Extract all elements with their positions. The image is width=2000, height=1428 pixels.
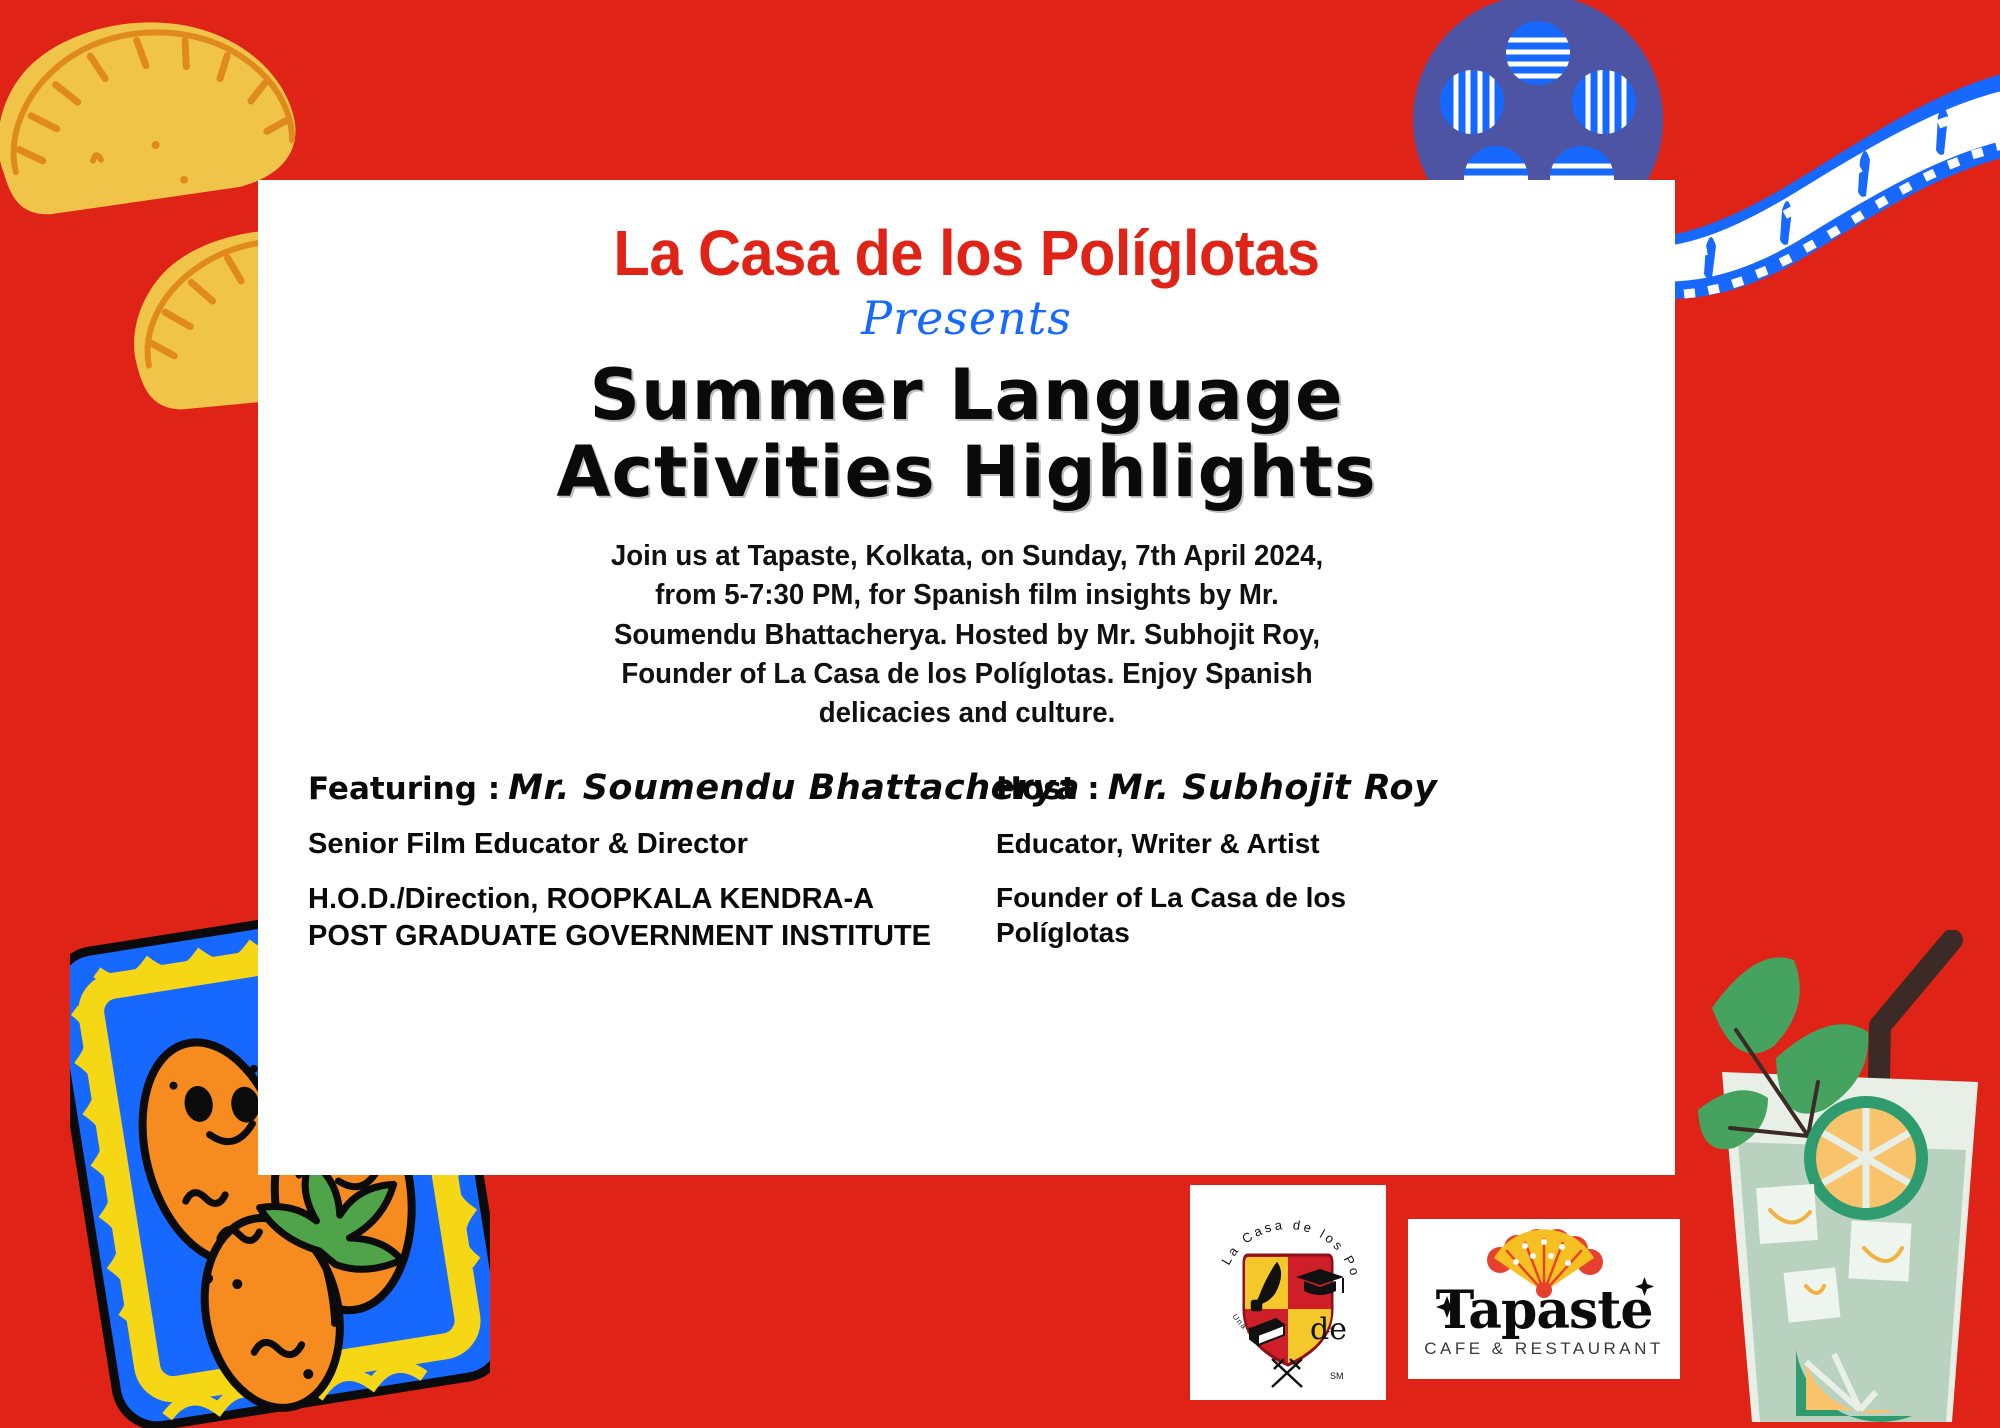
host-affiliation: Founder of La Casa de los Políglotas (996, 880, 1488, 952)
featuring-name-line: Featuring : Mr. Soumendu Bhattacherya (308, 768, 948, 808)
svg-text:de: de (1310, 1312, 1347, 1347)
brand-title: La Casa de los Políglotas (339, 220, 1594, 287)
event-description: Join us at Tapaste, Kolkata, on Sunday, … (593, 537, 1340, 734)
logo-row: La Casa de los Políglotas Una familia de… (1190, 1185, 1710, 1400)
featuring-title: Senior Film Educator & Director (308, 828, 948, 861)
svg-text:CAFE & RESTAURANT: CAFE & RESTAURANT (1424, 1339, 1664, 1358)
featuring-label: Featuring : (308, 771, 500, 807)
mojito-drink-illustration (1690, 930, 2000, 1428)
featuring-affiliation-line-1: H.O.D./Direction, ROOPKALA KENDRA-A (308, 883, 874, 915)
poster-content: La Casa de los Políglotas Presents Summe… (258, 180, 1675, 1175)
host-person-name: Mr. Subhojit Roy (1108, 768, 1438, 808)
headline-line-2: Activities Highlights (292, 434, 1641, 511)
svg-text:SM: SM (1330, 1371, 1344, 1381)
host-title: Educator, Writer & Artist (996, 828, 1488, 860)
host-affiliation-line-1: Founder of La Casa de los (996, 882, 1346, 913)
speaker-featuring: Featuring : Mr. Soumendu Bhattacherya Se… (308, 768, 948, 955)
presents-label: Presents (292, 289, 1641, 349)
featuring-affiliation: H.O.D./Direction, ROOPKALA KENDRA-A POST… (308, 881, 948, 955)
host-label: Host : (996, 771, 1100, 807)
headline-line-1: Summer Language (590, 354, 1344, 436)
la-casa-crest-logo: La Casa de los Políglotas Una familia de… (1190, 1185, 1386, 1400)
tapaste-logo: Tapaste CAFE & RESTAURANT (1408, 1219, 1680, 1379)
speakers-section: Featuring : Mr. Soumendu Bhattacherya Se… (292, 768, 1641, 955)
host-name-line: Host : Mr. Subhojit Roy (996, 768, 1488, 808)
speaker-host: Host : Mr. Subhojit Roy Educator, Writer… (948, 768, 1488, 955)
host-affiliation-line-2: Políglotas (996, 917, 1130, 948)
page-title: Summer Language Activities Highlights (292, 357, 1641, 511)
featuring-affiliation-line-2: POST GRADUATE GOVERNMENT INSTITUTE (308, 920, 931, 952)
svg-text:Tapaste: Tapaste (1436, 1280, 1653, 1341)
